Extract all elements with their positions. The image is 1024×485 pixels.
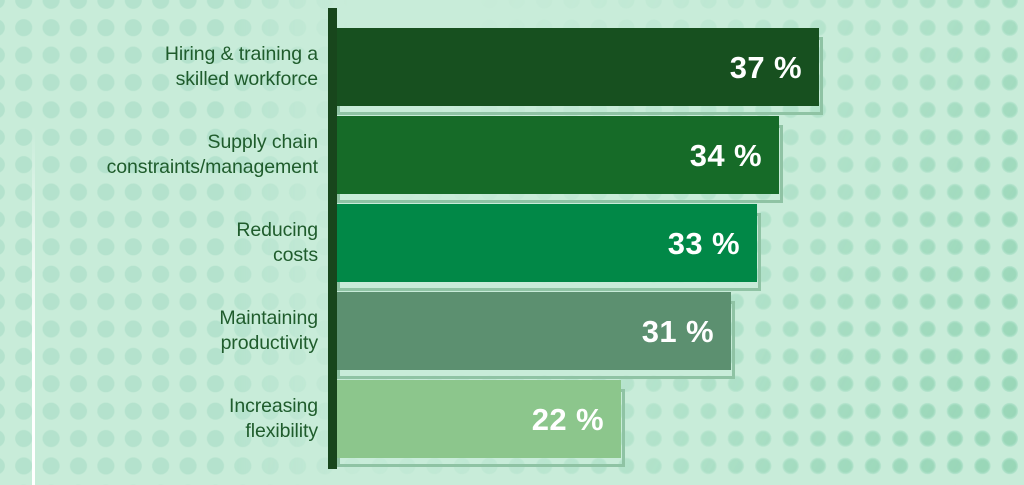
- bar-value-label: 33 %: [668, 228, 740, 259]
- bar-row: Maintaining productivity 31 %: [0, 292, 1024, 370]
- bar-category-label: Hiring & training a skilled workforce: [58, 28, 318, 106]
- bar-chart-plot-area: Hiring & training a skilled workforce 37…: [0, 0, 1024, 485]
- bar-row: Hiring & training a skilled workforce 37…: [0, 28, 1024, 106]
- bar-segment[interactable]: 34 %: [333, 116, 779, 194]
- bar-value-label: 37 %: [730, 52, 802, 83]
- bar-segment[interactable]: 37 %: [333, 28, 819, 106]
- chart-container: Hiring & training a skilled workforce 37…: [0, 0, 1024, 485]
- bar-segment[interactable]: 31 %: [333, 292, 731, 370]
- bar-segment[interactable]: 33 %: [333, 204, 757, 282]
- bar-row: Supply chain constraints/management 34 %: [0, 116, 1024, 194]
- bar-value-label: 31 %: [642, 316, 714, 347]
- bar-row: Increasing flexibility 22 %: [0, 380, 1024, 458]
- bar-category-label: Reducing costs: [58, 204, 318, 282]
- bar-segment[interactable]: 22 %: [333, 380, 621, 458]
- category-axis-line: [328, 8, 337, 469]
- bar-category-label: Increasing flexibility: [58, 380, 318, 458]
- bar-value-label: 22 %: [532, 404, 604, 435]
- bar-category-label: Supply chain constraints/management: [58, 116, 318, 194]
- bar-value-label: 34 %: [690, 140, 762, 171]
- bar-category-label: Maintaining productivity: [58, 292, 318, 370]
- bar-row: Reducing costs 33 %: [0, 204, 1024, 282]
